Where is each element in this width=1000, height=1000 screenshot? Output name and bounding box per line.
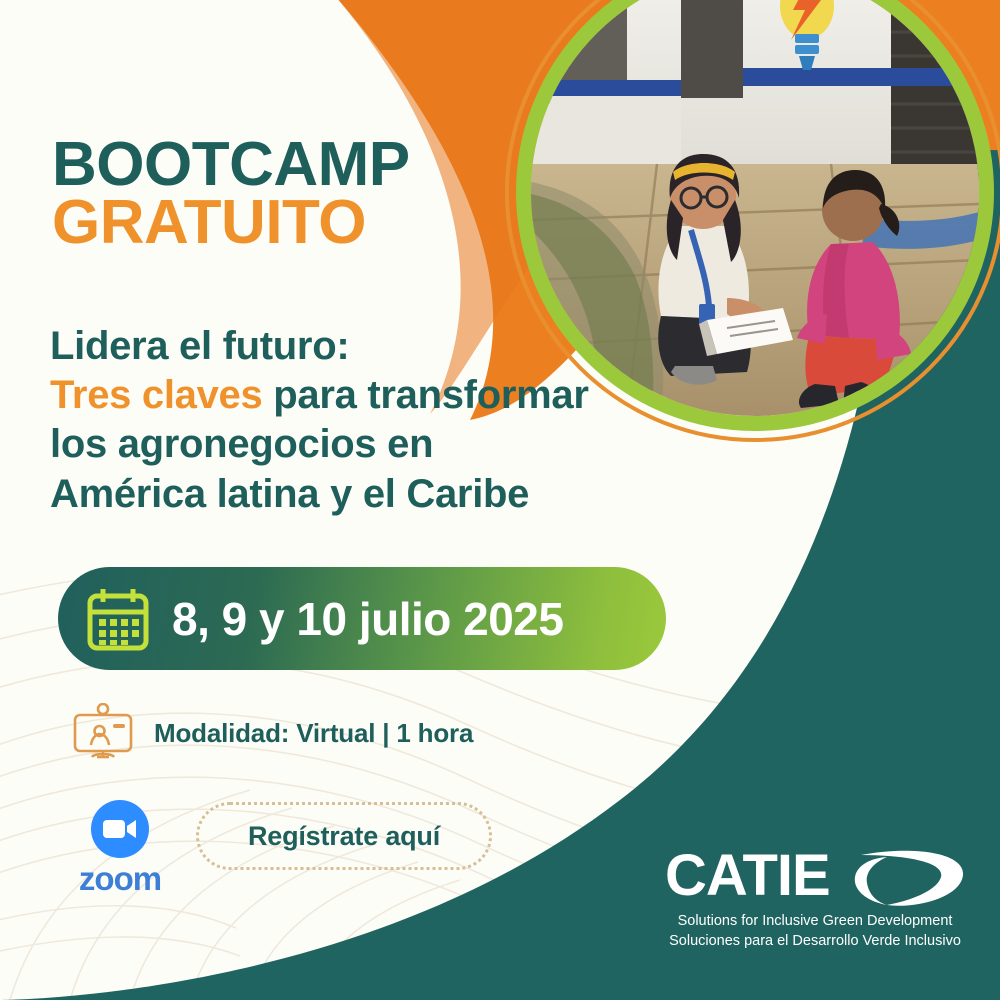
zoom-wordmark: zoom: [65, 860, 175, 898]
svg-text:CATIE: CATIE: [665, 845, 830, 908]
subtitle-highlight: Tres claves: [50, 373, 262, 417]
subtitle-line-4: América latina y el Caribe: [50, 470, 750, 519]
register-button-label: Regístrate aquí: [248, 821, 440, 852]
catie-tagline-es: Soluciones para el Desarrollo Verde Incl…: [665, 932, 965, 952]
subtitle: Lidera el futuro: Tres claves para trans…: [50, 322, 750, 519]
calendar-icon: [86, 586, 150, 652]
headline-line-1: BOOTCAMP: [52, 136, 410, 194]
register-button[interactable]: Regístrate aquí: [196, 802, 492, 870]
poster-canvas: BOOTCAMP GRATUITO Lidera el futuro: Tres…: [0, 0, 1000, 1000]
zoom-camera-icon: [91, 800, 149, 858]
date-text: 8, 9 y 10 julio 2025: [172, 592, 563, 646]
date-banner: 8, 9 y 10 julio 2025: [58, 567, 666, 670]
subtitle-line-1: Lidera el futuro:: [50, 322, 750, 371]
subtitle-line-3: los agronegocios en: [50, 420, 750, 469]
subtitle-line-2: Tres claves para transformar: [50, 371, 750, 420]
page-title: BOOTCAMP GRATUITO: [52, 136, 410, 251]
webinar-monitor-icon: [72, 703, 134, 763]
catie-tagline: Solutions for Inclusive Green Developmen…: [665, 912, 965, 951]
modality-text: Modalidad: Virtual | 1 hora: [154, 718, 473, 749]
headline-line-2: GRATUITO: [52, 194, 410, 252]
catie-logo: CATIE Solutions for Inclusive Green Deve…: [665, 845, 965, 951]
zoom-logo: zoom: [65, 800, 175, 898]
catie-tagline-en: Solutions for Inclusive Green Developmen…: [665, 912, 965, 932]
modality-row: Modalidad: Virtual | 1 hora: [72, 703, 473, 763]
catie-wordmark-and-leaf-icon: CATIE: [665, 845, 965, 911]
subtitle-line-2-rest: para transformar: [262, 373, 588, 417]
